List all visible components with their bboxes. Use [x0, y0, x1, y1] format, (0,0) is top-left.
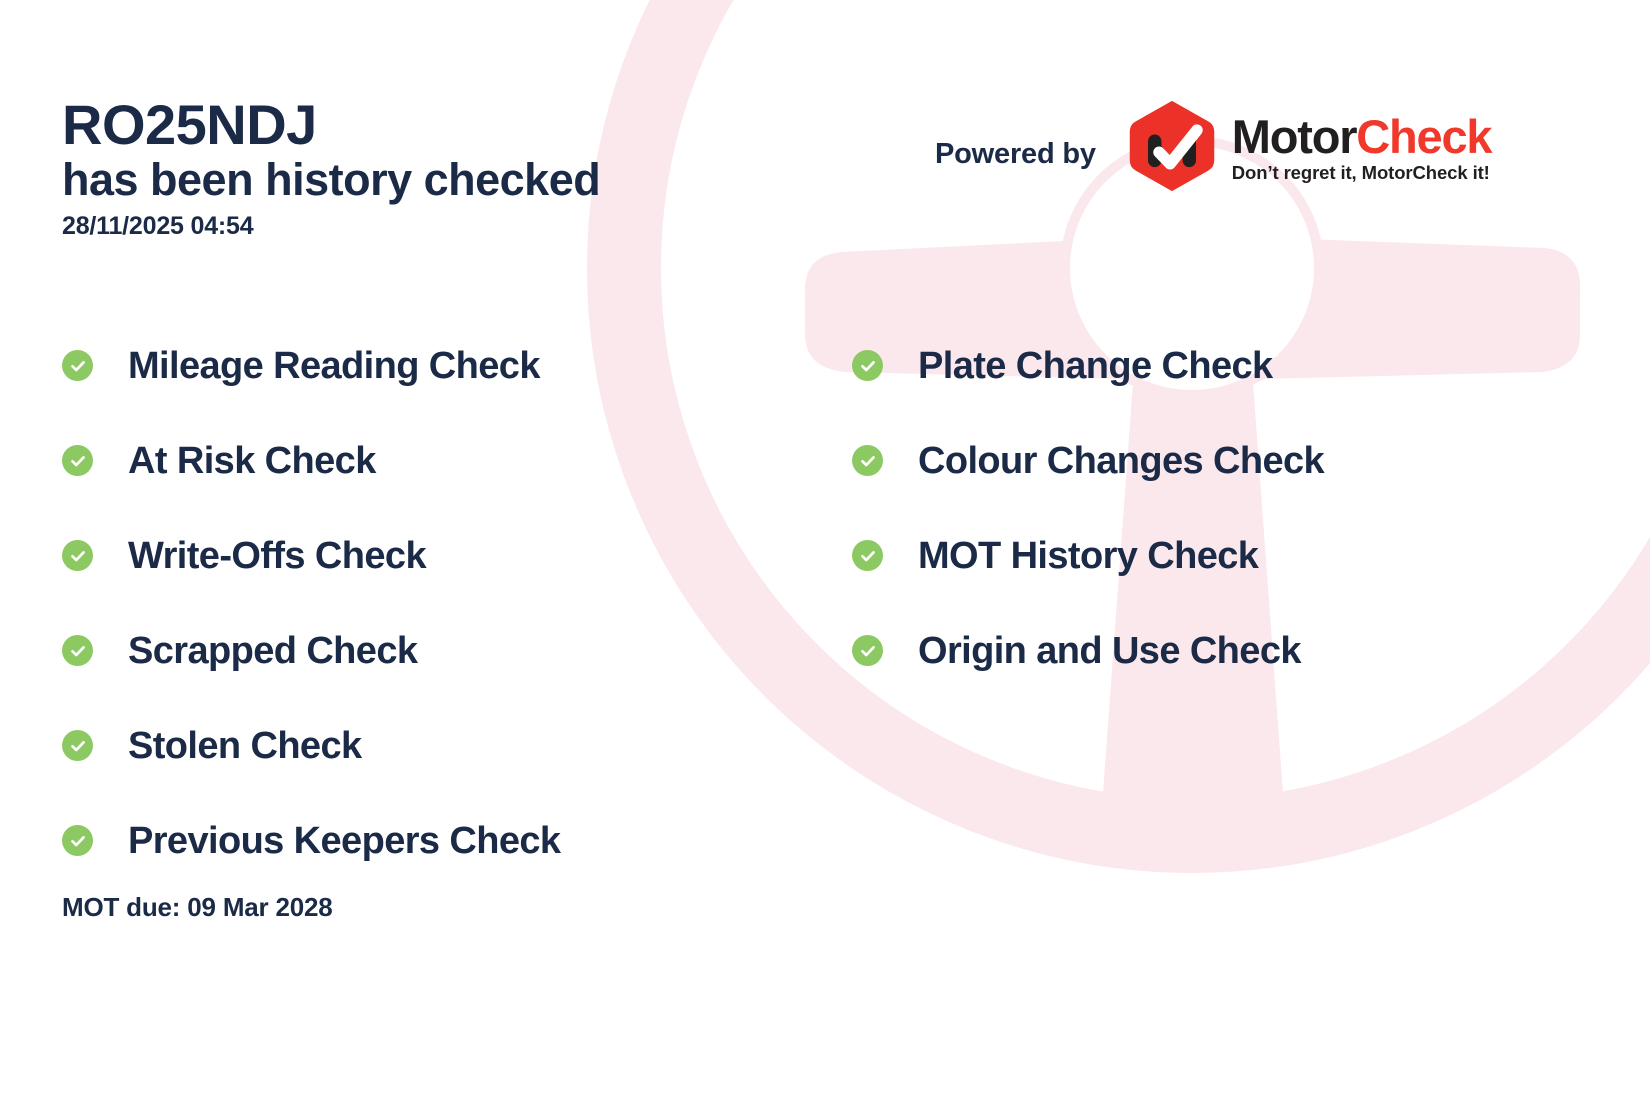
- check-label: Colour Changes Check: [918, 442, 1324, 480]
- check-label: At Risk Check: [128, 442, 376, 480]
- check-label: Plate Change Check: [918, 347, 1273, 385]
- check-timestamp: 28/11/2025 04:54: [62, 212, 600, 241]
- check-label: Scrapped Check: [128, 632, 417, 670]
- check-item: Stolen Check: [62, 698, 852, 793]
- report-heading: RO25NDJ has been history checked 28/11/2…: [62, 96, 600, 241]
- checks-list: Mileage Reading Check At Risk Check Writ…: [62, 318, 1542, 888]
- green-check-circle-icon: [852, 635, 883, 666]
- check-item: Colour Changes Check: [852, 413, 1542, 508]
- green-check-circle-icon: [62, 350, 93, 381]
- check-item: Scrapped Check: [62, 603, 852, 698]
- brand-tagline: Don’t regret it, MotorCheck it!: [1232, 162, 1492, 184]
- green-check-circle-icon: [852, 540, 883, 571]
- green-check-circle-icon: [62, 445, 93, 476]
- wordmark-check: Check: [1356, 110, 1491, 163]
- motorcheck-wordmark: MotorCheck Don’t regret it, MotorCheck i…: [1232, 113, 1492, 184]
- green-check-circle-icon: [62, 635, 93, 666]
- checks-column-right: Plate Change Check Colour Changes Check …: [852, 318, 1542, 888]
- check-label: Write-Offs Check: [128, 537, 426, 575]
- checks-column-left: Mileage Reading Check At Risk Check Writ…: [62, 318, 852, 888]
- green-check-circle-icon: [62, 540, 93, 571]
- check-label: MOT History Check: [918, 537, 1258, 575]
- green-check-circle-icon: [852, 350, 883, 381]
- page-title: has been history checked: [62, 155, 600, 205]
- green-check-circle-icon: [62, 730, 93, 761]
- mot-due-text: MOT due: 09 Mar 2028: [62, 892, 333, 923]
- check-label: Stolen Check: [128, 727, 362, 765]
- powered-by-label: Powered by: [935, 138, 1096, 171]
- wordmark-motor: Motor: [1232, 110, 1357, 163]
- check-item: At Risk Check: [62, 413, 852, 508]
- report-card: RO25NDJ has been history checked 28/11/2…: [0, 0, 1650, 1100]
- registration-number: RO25NDJ: [62, 96, 600, 155]
- check-label: Origin and Use Check: [918, 632, 1301, 670]
- check-item: Plate Change Check: [852, 318, 1542, 413]
- check-item: Write-Offs Check: [62, 508, 852, 603]
- check-item: Origin and Use Check: [852, 603, 1542, 698]
- check-item: Previous Keepers Check: [62, 793, 852, 888]
- green-check-circle-icon: [62, 825, 93, 856]
- check-label: Mileage Reading Check: [128, 347, 540, 385]
- powered-by-branding: Powered by MotorCheck Don’t regret it, M…: [935, 114, 1491, 194]
- green-check-circle-icon: [852, 445, 883, 476]
- motorcheck-hexagon-m-check-icon: [1124, 98, 1220, 194]
- check-item: MOT History Check: [852, 508, 1542, 603]
- check-item: Mileage Reading Check: [62, 318, 852, 413]
- check-label: Previous Keepers Check: [128, 822, 560, 860]
